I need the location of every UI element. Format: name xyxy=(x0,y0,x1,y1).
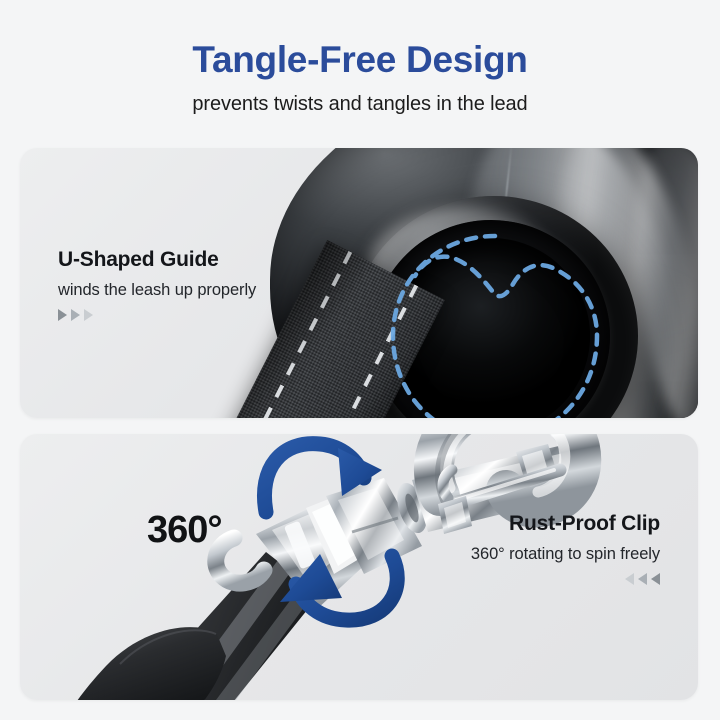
feature-panel-u-shaped-guide: U-Shaped Guide winds the leash up proper… xyxy=(20,148,698,418)
page-title: Tangle-Free Design xyxy=(0,41,720,80)
triangle-right-icon-2 xyxy=(71,309,80,321)
arrow-indicator-right xyxy=(58,309,256,321)
triangle-right-icon-3 xyxy=(84,309,93,321)
rust-proof-clip-text-block: Rust-Proof Clip 360° rotating to spin fr… xyxy=(471,512,660,585)
feature-panel-rust-proof-clip: Rust-Proof Clip 360° rotating to spin fr… xyxy=(20,434,698,700)
rotation-degree-label: 360° xyxy=(147,509,222,552)
header: Tangle-Free Design prevents twists and t… xyxy=(0,0,720,116)
feature-title: U-Shaped Guide xyxy=(58,248,256,272)
triangle-left-icon-2 xyxy=(638,573,647,585)
triangle-right-icon-1 xyxy=(58,309,67,321)
page-subtitle: prevents twists and tangles in the lead xyxy=(0,93,720,116)
infographic-page: Tangle-Free Design prevents twists and t… xyxy=(0,0,720,720)
feature-subtitle: winds the leash up properly xyxy=(58,281,256,300)
feature-title: Rust-Proof Clip xyxy=(471,512,660,536)
u-shape-dashed-highlight-icon xyxy=(375,218,615,418)
feature-subtitle: 360° rotating to spin freely xyxy=(471,545,660,564)
triangle-left-icon-3 xyxy=(651,573,660,585)
triangle-left-icon-1 xyxy=(625,573,634,585)
clip-webbing-strap xyxy=(64,552,320,700)
arrow-indicator-left xyxy=(471,573,660,585)
u-shaped-guide-text-block: U-Shaped Guide winds the leash up proper… xyxy=(58,248,256,321)
